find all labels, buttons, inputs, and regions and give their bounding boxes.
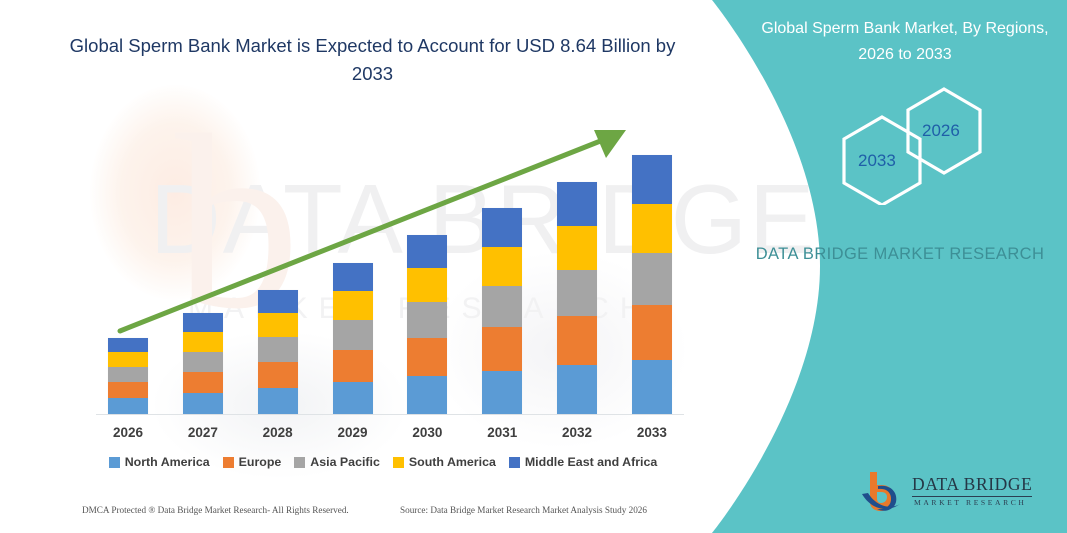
legend-swatch <box>109 457 120 468</box>
bar-segment <box>108 338 148 352</box>
x-axis-labels: 20262027202820292030203120322033 <box>96 425 684 440</box>
footer-copyright: DMCA Protected ® Data Bridge Market Rese… <box>82 505 349 515</box>
bar-segment <box>482 327 522 371</box>
stacked-bar[interactable] <box>258 290 298 414</box>
bar-segment <box>407 376 447 414</box>
x-axis-label: 2033 <box>620 425 684 440</box>
bar-segment <box>258 337 298 362</box>
x-axis-label: 2026 <box>96 425 160 440</box>
x-axis-label: 2030 <box>395 425 459 440</box>
bar-column <box>395 114 459 414</box>
x-axis-label: 2029 <box>321 425 385 440</box>
bar-segment <box>258 313 298 337</box>
bridge-logo-mark-icon <box>860 468 908 514</box>
bar-segment <box>333 263 373 291</box>
bar-column <box>545 114 609 414</box>
bar-segment <box>557 226 597 270</box>
bar-segment <box>557 365 597 414</box>
legend-item[interactable]: Middle East and Africa <box>509 455 657 469</box>
bar-group <box>96 114 684 414</box>
stacked-bar[interactable] <box>482 208 522 414</box>
bar-column <box>470 114 534 414</box>
bar-segment <box>482 208 522 247</box>
bar-segment <box>333 382 373 414</box>
bar-segment <box>632 155 672 204</box>
bar-segment <box>258 362 298 388</box>
legend-swatch <box>393 457 404 468</box>
bar-column <box>620 114 684 414</box>
bar-segment <box>108 398 148 414</box>
stacked-bar[interactable] <box>333 263 373 414</box>
bar-segment <box>632 305 672 360</box>
bar-column <box>246 114 310 414</box>
x-axis-label: 2027 <box>171 425 235 440</box>
panel-title: Global Sperm Bank Market, By Regions, 20… <box>760 16 1050 68</box>
bar-segment <box>482 286 522 327</box>
infographic-root: b DATA BRIDGE MARKET RESEARCH Global Spe… <box>0 0 1067 533</box>
x-axis-label: 2031 <box>470 425 534 440</box>
bar-segment <box>407 235 447 268</box>
page-title: Global Sperm Bank Market is Expected to … <box>60 32 685 88</box>
bar-segment <box>557 270 597 316</box>
x-axis-line <box>96 414 684 415</box>
bar-segment <box>183 313 223 332</box>
bar-segment <box>557 182 597 226</box>
bar-segment <box>482 247 522 286</box>
legend-label: Europe <box>239 455 282 469</box>
footer-source: Source: Data Bridge Market Research Mark… <box>400 505 647 515</box>
bar-segment <box>557 316 597 365</box>
bar-segment <box>333 350 373 382</box>
legend-item[interactable]: South America <box>393 455 496 469</box>
stacked-bar[interactable] <box>407 235 447 414</box>
logo-divider <box>912 496 1032 497</box>
bar-segment <box>258 388 298 414</box>
legend-swatch <box>223 457 234 468</box>
hexagon-label-lower: 2033 <box>858 151 896 171</box>
bar-segment <box>183 332 223 352</box>
legend-label: South America <box>409 455 496 469</box>
legend-item[interactable]: North America <box>109 455 210 469</box>
hexagon-outlines-icon <box>730 85 1040 205</box>
bar-segment <box>333 291 373 320</box>
legend-item[interactable]: Asia Pacific <box>294 455 380 469</box>
stacked-bar[interactable] <box>108 338 148 414</box>
logo-primary-text: DATA BRIDGE <box>912 474 1032 495</box>
bar-segment <box>108 367 148 382</box>
hexagon-label-upper: 2026 <box>922 121 960 141</box>
legend-swatch <box>509 457 520 468</box>
x-axis-label: 2032 <box>545 425 609 440</box>
bar-segment <box>407 268 447 302</box>
panel-brand: DATA BRIDGE MARKET RESEARCH <box>755 240 1045 268</box>
bar-segment <box>632 360 672 414</box>
legend-label: North America <box>125 455 210 469</box>
stacked-bar[interactable] <box>557 182 597 414</box>
legend-label: Middle East and Africa <box>525 455 657 469</box>
bar-segment <box>407 338 447 376</box>
bar-segment <box>183 352 223 372</box>
stacked-bar-chart: 20262027202820292030203120322033 <box>78 110 688 415</box>
bar-column <box>96 114 160 414</box>
legend-swatch <box>294 457 305 468</box>
bar-segment <box>407 302 447 338</box>
company-logo: DATA BRIDGE MARKET RESEARCH <box>860 468 1060 520</box>
bar-segment <box>183 393 223 414</box>
legend-label: Asia Pacific <box>310 455 380 469</box>
chart-legend: North AmericaEuropeAsia PacificSouth Ame… <box>78 455 688 469</box>
stacked-bar[interactable] <box>183 313 223 414</box>
year-hexagons: 2026 2033 <box>730 85 1040 205</box>
bar-segment <box>482 371 522 414</box>
teal-panel: Global Sperm Bank Market, By Regions, 20… <box>700 0 1067 533</box>
bar-segment <box>632 204 672 253</box>
bar-segment <box>108 352 148 367</box>
footer: DMCA Protected ® Data Bridge Market Rese… <box>0 505 712 527</box>
bar-segment <box>333 320 373 350</box>
bar-segment <box>183 372 223 393</box>
bar-column <box>171 114 235 414</box>
bar-segment <box>258 290 298 313</box>
logo-secondary-text: MARKET RESEARCH <box>914 498 1027 507</box>
legend-item[interactable]: Europe <box>223 455 282 469</box>
stacked-bar[interactable] <box>632 155 672 414</box>
bar-column <box>321 114 385 414</box>
bar-segment <box>632 253 672 305</box>
bar-segment <box>108 382 148 398</box>
x-axis-label: 2028 <box>246 425 310 440</box>
